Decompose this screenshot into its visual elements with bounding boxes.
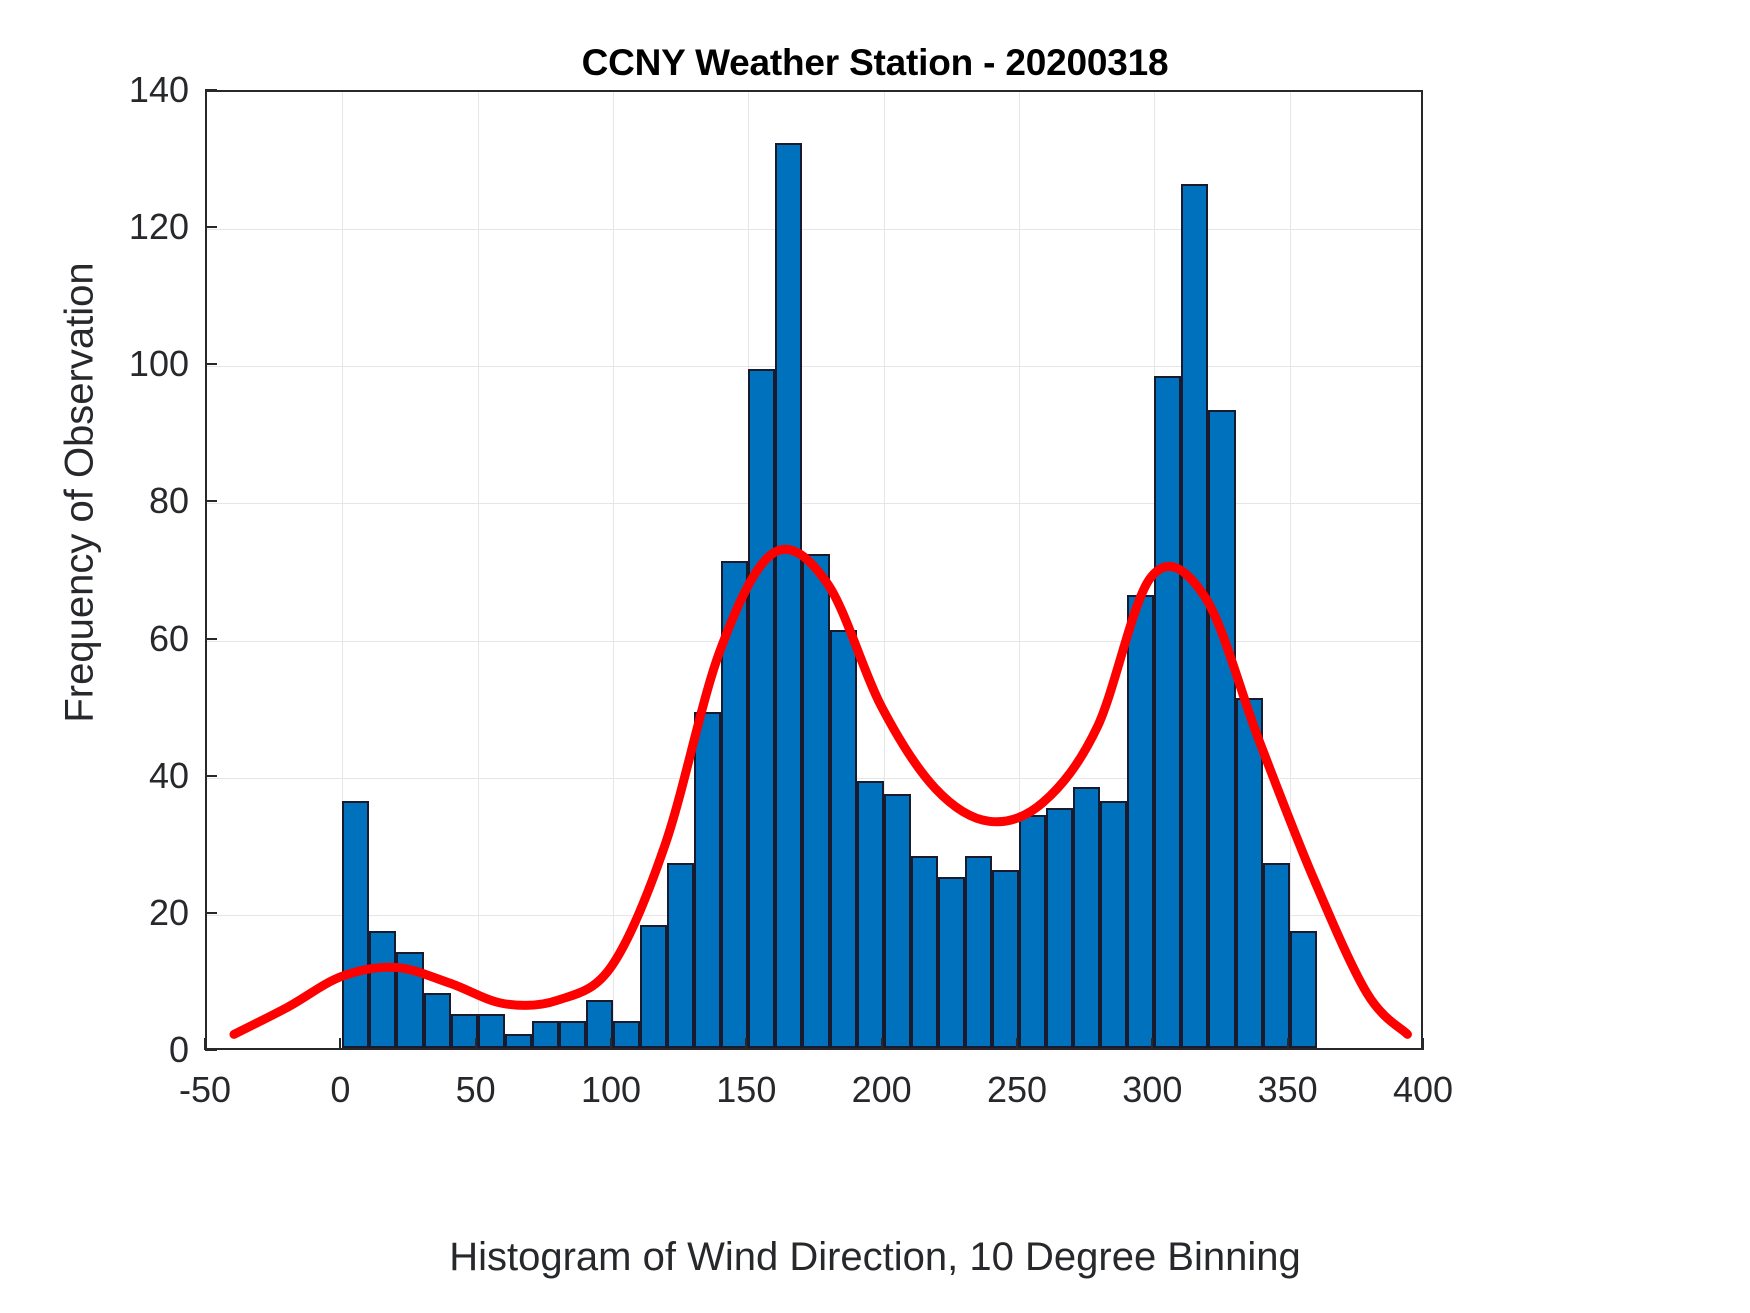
histogram-bar [857, 781, 884, 1048]
y-axis-label: Frequency of Observation [58, 13, 103, 973]
gridline-horizontal [207, 503, 1421, 504]
histogram-bar [559, 1021, 586, 1048]
y-tick-mark [205, 226, 217, 228]
histogram-bar [748, 369, 775, 1048]
histogram-bar [613, 1021, 640, 1048]
y-tick-mark [205, 638, 217, 640]
histogram-bar [830, 630, 857, 1048]
histogram-bar [1236, 698, 1263, 1048]
histogram-bar [938, 877, 965, 1048]
histogram-bar [478, 1014, 505, 1048]
figure-canvas: CCNY Weather Station - 20200318 02040608… [0, 0, 1750, 1313]
histogram-bar [721, 561, 748, 1048]
gridline-vertical [478, 92, 479, 1048]
histogram-bar [884, 794, 911, 1048]
y-tick-label: 0 [19, 1032, 189, 1068]
histogram-bar [1046, 808, 1073, 1048]
histogram-bar [992, 870, 1019, 1048]
histogram-bar [1263, 863, 1290, 1048]
histogram-bar [424, 993, 451, 1048]
x-tick-mark [1422, 1038, 1424, 1050]
y-tick-mark [205, 500, 217, 502]
histogram-bar [586, 1000, 613, 1048]
x-tick-mark [339, 1038, 341, 1050]
histogram-bar [640, 925, 667, 1048]
gridline-vertical [613, 92, 614, 1048]
histogram-bar [1290, 931, 1317, 1048]
y-tick-label: 20 [19, 895, 189, 931]
histogram-bar [1100, 801, 1127, 1048]
histogram-bar [505, 1034, 532, 1048]
histogram-bar [667, 863, 694, 1048]
histogram-bar [802, 554, 829, 1048]
histogram-bar [396, 952, 423, 1048]
x-axis-label: Histogram of Wind Direction, 10 Degree B… [0, 1235, 1750, 1280]
histogram-bar [1127, 595, 1154, 1048]
histogram-bar [1181, 184, 1208, 1048]
x-tick-label: 400 [1343, 1072, 1503, 1108]
histogram-bar [694, 712, 721, 1048]
x-tick-mark [745, 1038, 747, 1050]
x-tick-mark [610, 1038, 612, 1050]
y-tick-mark [205, 89, 217, 91]
y-tick-label: 60 [19, 621, 189, 657]
y-tick-mark [205, 775, 217, 777]
y-tick-mark [205, 1049, 217, 1051]
histogram-bar [369, 931, 396, 1048]
gridline-horizontal [207, 229, 1421, 230]
plot-area [205, 90, 1423, 1050]
y-tick-label: 140 [19, 72, 189, 108]
y-tick-label: 120 [19, 209, 189, 245]
x-tick-mark [881, 1038, 883, 1050]
histogram-bar [965, 856, 992, 1048]
y-tick-label: 100 [19, 346, 189, 382]
y-tick-mark [205, 363, 217, 365]
gridline-vertical [1290, 92, 1291, 1048]
x-tick-mark [204, 1038, 206, 1050]
histogram-bar [775, 143, 802, 1048]
x-tick-mark [1151, 1038, 1153, 1050]
histogram-bar [911, 856, 938, 1048]
histogram-bar [1154, 376, 1181, 1048]
x-tick-mark [1016, 1038, 1018, 1050]
histogram-bar [1073, 787, 1100, 1048]
y-tick-label: 80 [19, 483, 189, 519]
histogram-bar [1019, 815, 1046, 1048]
x-tick-mark [475, 1038, 477, 1050]
page-title: CCNY Weather Station - 20200318 [0, 42, 1750, 84]
histogram-bar [1208, 410, 1235, 1048]
gridline-horizontal [207, 366, 1421, 367]
histogram-bar [451, 1014, 478, 1048]
y-tick-mark [205, 912, 217, 914]
y-tick-label: 40 [19, 758, 189, 794]
histogram-bar [342, 801, 369, 1048]
histogram-bar [532, 1021, 559, 1048]
x-tick-mark [1287, 1038, 1289, 1050]
